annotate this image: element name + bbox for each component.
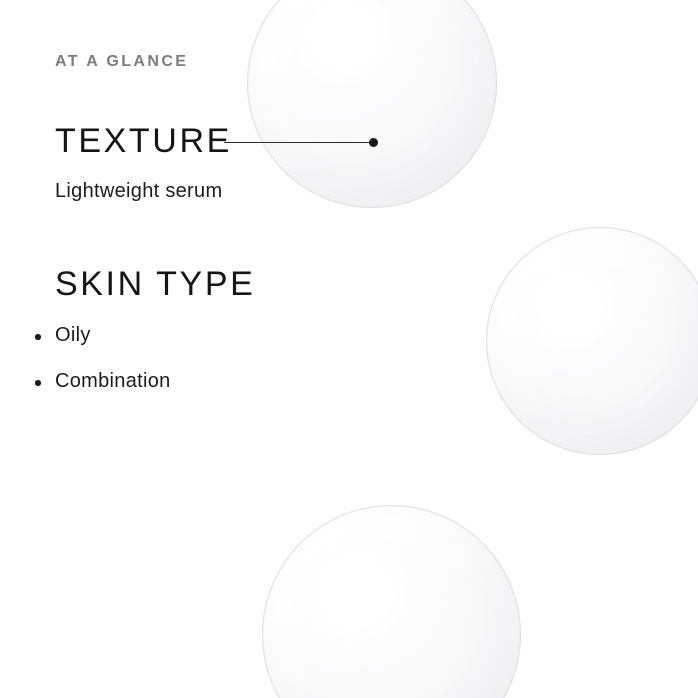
texture-value: Lightweight serum bbox=[55, 180, 222, 203]
leader-line bbox=[224, 142, 374, 143]
skin-type-list: Oily Combination bbox=[31, 324, 171, 416]
product-at-a-glance-panel: AT A GLANCE TEXTURE Lightweight serum SK… bbox=[0, 0, 698, 698]
section-title-skin-type: SKIN TYPE bbox=[55, 265, 255, 304]
list-item: Oily bbox=[31, 324, 171, 347]
content-layer: AT A GLANCE TEXTURE Lightweight serum SK… bbox=[0, 0, 698, 698]
eyebrow-label: AT A GLANCE bbox=[55, 53, 188, 71]
list-item-label: Oily bbox=[55, 324, 91, 346]
bullet-dot-icon bbox=[35, 380, 41, 386]
list-item: Combination bbox=[31, 370, 171, 393]
bullet-dot-icon bbox=[35, 334, 41, 340]
section-title-texture: TEXTURE bbox=[55, 122, 232, 161]
leader-dot bbox=[369, 138, 378, 147]
list-item-label: Combination bbox=[55, 370, 171, 392]
